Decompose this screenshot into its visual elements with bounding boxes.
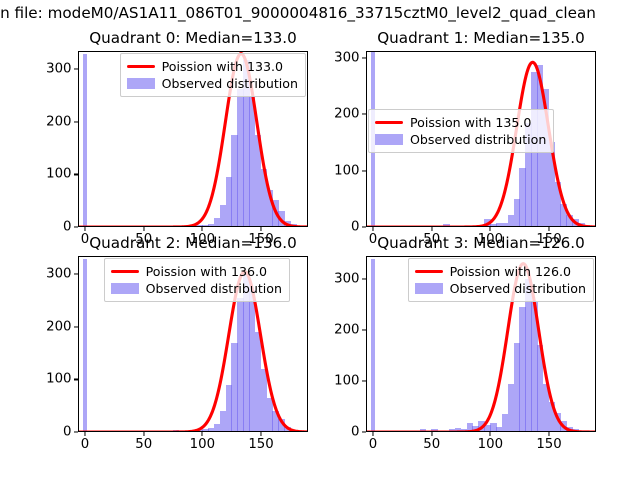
figure-suptitle-text: n file: modeM0/AS1A11_086T01_9000004816_… bbox=[0, 2, 596, 24]
legend-label: Poission with 136.0 bbox=[146, 263, 267, 280]
legend: Poission with 126.0Observed distribution bbox=[408, 258, 594, 302]
y-tick-label: 200 bbox=[334, 323, 366, 336]
legend: Poission with 136.0Observed distribution bbox=[104, 258, 290, 302]
x-tick-mark bbox=[549, 432, 550, 436]
legend-item-poisson: Poission with 133.0 bbox=[127, 58, 298, 75]
legend-label: Observed distribution bbox=[450, 280, 586, 297]
x-tick-mark bbox=[490, 432, 491, 436]
x-tick-mark bbox=[373, 227, 374, 231]
x-tick-mark bbox=[85, 227, 86, 231]
x-tick-mark bbox=[85, 432, 86, 436]
y-tick-label: 300 bbox=[46, 63, 78, 76]
subplot-0-title: Quadrant 0: Median=133.0 bbox=[78, 28, 308, 49]
subplot-quadrant-1: Quadrant 1: Median=135.0 010020030005010… bbox=[366, 51, 596, 227]
figure-suptitle: n file: modeM0/AS1A11_086T01_9000004816_… bbox=[0, 2, 640, 24]
legend-item-observed: Observed distribution bbox=[375, 131, 546, 148]
legend-item-poisson: Poission with 136.0 bbox=[111, 263, 282, 280]
legend-line-swatch bbox=[111, 265, 139, 279]
y-tick-label: 200 bbox=[46, 115, 78, 128]
x-tick-mark bbox=[549, 227, 550, 231]
subplot-3-title: Quadrant 3: Median=126.0 bbox=[366, 233, 596, 254]
legend-line-swatch bbox=[375, 116, 403, 130]
y-tick-label: 200 bbox=[46, 320, 78, 333]
x-tick-mark bbox=[490, 227, 491, 231]
legend-item-observed: Observed distribution bbox=[415, 280, 586, 297]
y-tick-label: 100 bbox=[46, 168, 78, 181]
legend-label: Poission with 133.0 bbox=[162, 58, 283, 75]
legend-item-poisson: Poission with 126.0 bbox=[415, 263, 586, 280]
legend-patch-swatch bbox=[127, 77, 155, 91]
x-tick-mark bbox=[431, 432, 432, 436]
legend-label: Poission with 126.0 bbox=[450, 263, 571, 280]
legend-line-swatch bbox=[127, 60, 155, 74]
legend-item-observed: Observed distribution bbox=[111, 280, 282, 297]
subplot-quadrant-2: Quadrant 2: Median=136.0 010020030005010… bbox=[78, 256, 308, 432]
y-tick-label: 300 bbox=[334, 272, 366, 285]
x-tick-mark bbox=[143, 227, 144, 231]
y-tick-label: 100 bbox=[334, 374, 366, 387]
legend-label: Observed distribution bbox=[410, 131, 546, 148]
legend: Poission with 135.0Observed distribution bbox=[368, 109, 554, 153]
x-tick-mark bbox=[431, 227, 432, 231]
legend-patch-swatch bbox=[375, 133, 403, 147]
subplot-quadrant-3: Quadrant 3: Median=126.0 010020030005010… bbox=[366, 256, 596, 432]
y-tick-label: 100 bbox=[46, 373, 78, 386]
x-tick-mark bbox=[202, 432, 203, 436]
legend-item-poisson: Poission with 135.0 bbox=[375, 114, 546, 131]
x-tick-mark bbox=[202, 227, 203, 231]
legend-label: Poission with 135.0 bbox=[410, 114, 531, 131]
x-tick-mark bbox=[143, 432, 144, 436]
legend-patch-swatch bbox=[415, 282, 443, 296]
subplot-1-title: Quadrant 1: Median=135.0 bbox=[366, 28, 596, 49]
legend: Poission with 133.0Observed distribution bbox=[120, 53, 306, 97]
x-tick-mark bbox=[373, 432, 374, 436]
y-tick-label: 300 bbox=[46, 268, 78, 281]
legend-label: Observed distribution bbox=[162, 75, 298, 92]
legend-line-swatch bbox=[415, 265, 443, 279]
y-tick-label: 300 bbox=[334, 51, 366, 64]
y-tick-label: 200 bbox=[334, 108, 366, 121]
x-tick-mark bbox=[261, 432, 262, 436]
x-tick-mark bbox=[261, 227, 262, 231]
subplot-quadrant-0: Quadrant 0: Median=133.0 010020030005010… bbox=[78, 51, 308, 227]
legend-label: Observed distribution bbox=[146, 280, 282, 297]
figure-canvas: n file: modeM0/AS1A11_086T01_9000004816_… bbox=[0, 0, 640, 480]
legend-item-observed: Observed distribution bbox=[127, 75, 298, 92]
y-tick-label: 100 bbox=[334, 164, 366, 177]
legend-patch-swatch bbox=[111, 282, 139, 296]
subplot-2-title: Quadrant 2: Median=136.0 bbox=[78, 233, 308, 254]
